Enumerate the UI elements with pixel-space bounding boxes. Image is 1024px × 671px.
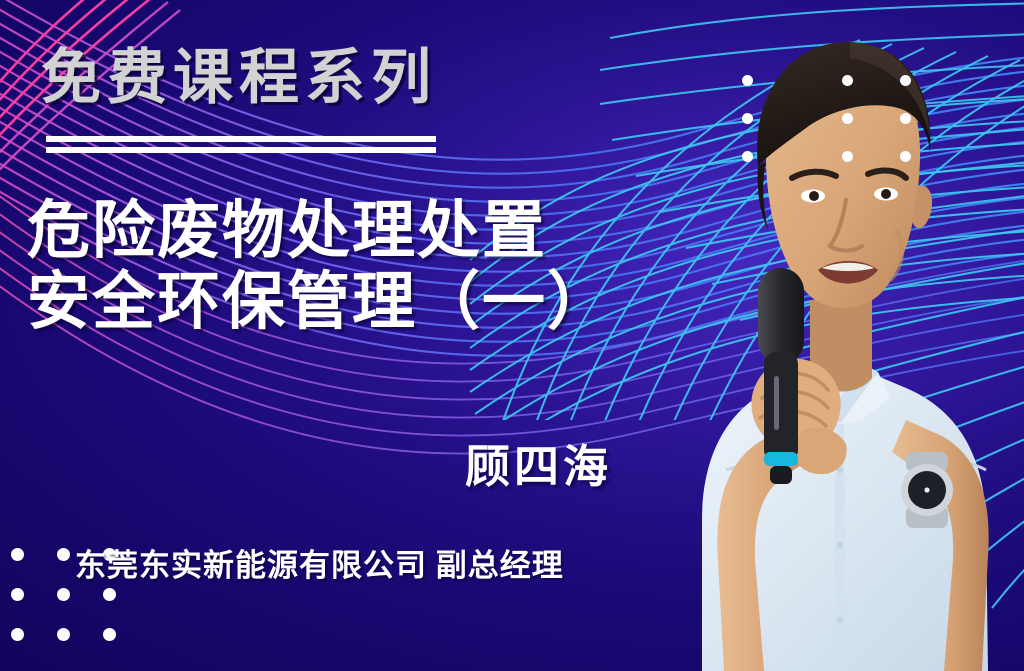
title-divider-rules — [46, 136, 436, 153]
speaker-name: 顾四海 — [0, 430, 612, 495]
dot-grid-right — [742, 75, 932, 220]
course-title-line-1: 危险废物处理处置 — [27, 196, 687, 267]
speaker-affiliation: 东莞东实新能源有限公司 副总经理 — [75, 540, 564, 585]
course-title-line-2: 安全环保管理（一） — [27, 267, 687, 338]
divider-rule-top — [46, 136, 436, 142]
divider-rule-bottom — [46, 147, 436, 153]
course-title: 危险废物处理处置 安全环保管理（一） — [27, 196, 687, 337]
course-poster: 免费课程系列 危险废物处理处置 安全环保管理（一） 顾四海 东莞东实新能源有限公… — [0, 0, 1024, 671]
series-eyebrow-label: 免费课程系列 — [41, 48, 437, 108]
